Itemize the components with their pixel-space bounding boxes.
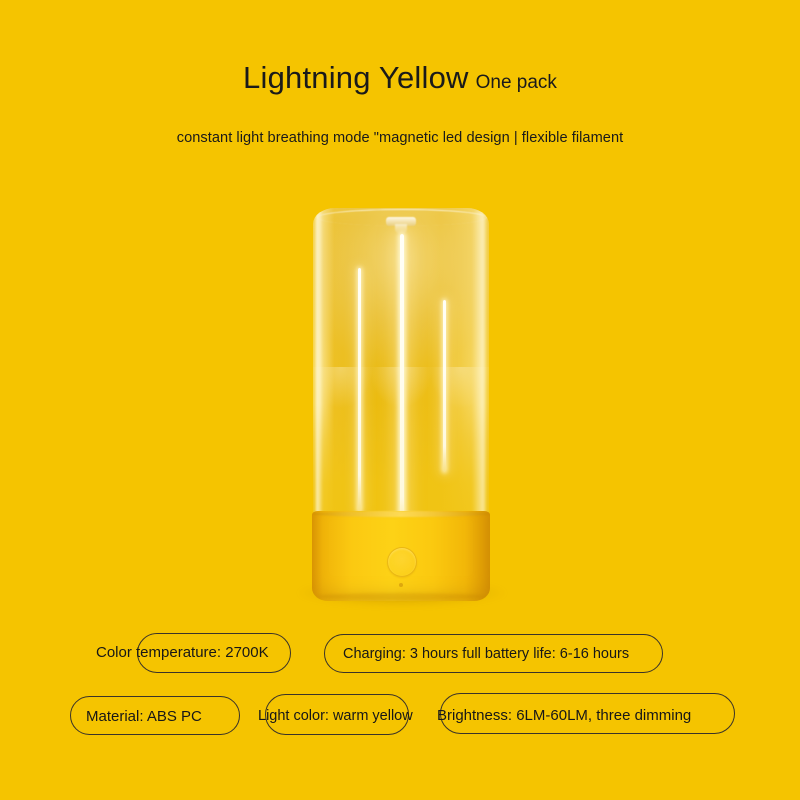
lamp-glass-highlight-left	[316, 210, 323, 522]
lamp-base	[312, 511, 490, 601]
product-subtitle: constant light breathing mode "magnetic …	[0, 130, 800, 146]
lamp-base-top-seam	[313, 511, 489, 517]
feature-label-color-temperature: Color temperature: 2700K	[96, 645, 269, 660]
product-title: Lightning Yellow	[243, 60, 469, 95]
product-image-lamp	[312, 208, 490, 600]
lamp-glass-highlight-right	[472, 210, 485, 522]
page-title: Lightning YellowOne pack	[0, 62, 800, 93]
lamp-base-bottom-seam	[317, 593, 485, 600]
feature-label-charging: Charging: 3 hours full battery life: 6-1…	[343, 647, 629, 662]
feature-label-material: Material: ABS PC	[86, 709, 202, 724]
product-title-suffix: One pack	[476, 72, 557, 93]
power-button[interactable]	[387, 547, 417, 577]
feature-label-brightness: Brightness: 6LM-60LM, three dimming	[437, 708, 691, 723]
lamp-led-emitter-stem	[395, 224, 407, 234]
lamp-filament-right	[443, 300, 446, 472]
feature-label-light-color: Light color: warm yellow	[258, 709, 413, 724]
lamp-filament-center	[400, 234, 404, 533]
lamp-filament-left	[358, 268, 361, 512]
product-detail-page: Lightning YellowOne pack constant light …	[0, 0, 800, 800]
lamp-glass-shade	[313, 208, 489, 533]
indicator-dot	[399, 583, 403, 587]
